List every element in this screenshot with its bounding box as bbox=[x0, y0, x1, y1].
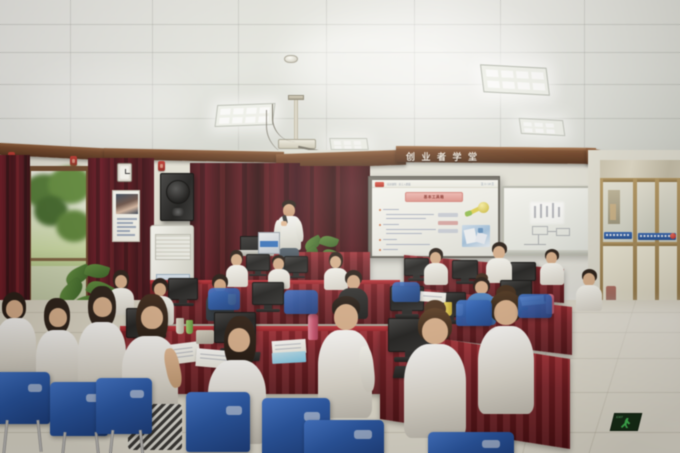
projection-screen: 培训课程 · 员工入职篇 第 3 / 18 页 基本工具箱 bbox=[368, 176, 500, 258]
blue-wall-sign-left bbox=[604, 232, 632, 239]
window-frame bbox=[26, 258, 92, 261]
blue-notebook bbox=[272, 351, 307, 364]
slide-header-text: 培训课程 · 员工入职篇 bbox=[387, 182, 411, 186]
whiteboard bbox=[502, 186, 590, 256]
attendee bbox=[540, 250, 564, 284]
pink-thermos bbox=[308, 314, 318, 340]
wall-poster bbox=[112, 190, 140, 242]
window-frame bbox=[26, 166, 92, 171]
chair bbox=[428, 432, 514, 453]
green-cup bbox=[186, 320, 193, 334]
ceiling-light-panel bbox=[329, 138, 369, 150]
smoke-detector-icon bbox=[284, 55, 298, 63]
monitor bbox=[246, 254, 270, 276]
chair bbox=[518, 294, 552, 318]
slide-logo-icon bbox=[375, 182, 384, 187]
chair bbox=[304, 420, 384, 453]
wall-clock-icon bbox=[117, 163, 132, 182]
monitor bbox=[252, 282, 284, 312]
exit-floor-sign-near: EXIT bbox=[610, 413, 642, 431]
exit-sign-text: EXIT bbox=[616, 415, 624, 419]
chair bbox=[392, 282, 420, 302]
ceiling-light-panel bbox=[480, 64, 550, 95]
projected-slide: 培训课程 · 员工入职篇 第 3 / 18 页 基本工具箱 bbox=[372, 180, 498, 256]
chair bbox=[208, 288, 240, 310]
slide-title-text: 基本工具箱 bbox=[424, 195, 444, 200]
ceiling-light-panel bbox=[519, 118, 566, 136]
attendee bbox=[424, 250, 448, 284]
chair bbox=[456, 300, 492, 326]
chair bbox=[186, 392, 250, 452]
projector-ceiling-plate bbox=[288, 95, 304, 100]
chair bbox=[96, 378, 152, 434]
chair bbox=[0, 372, 50, 424]
slide-title-banner: 基本工具箱 bbox=[405, 192, 463, 202]
wall-banner-text: 创 业 者 学 堂 bbox=[406, 150, 479, 163]
chair bbox=[284, 290, 318, 314]
red-tassel-decoration bbox=[70, 156, 77, 166]
slide-page-number: 第 3 / 18 页 bbox=[481, 182, 494, 186]
slide-illustration-tool bbox=[464, 202, 490, 220]
glass-partition bbox=[600, 160, 680, 320]
red-tassel-decoration bbox=[158, 161, 165, 171]
wall-speaker bbox=[160, 173, 194, 221]
classroom-training-photo: 创 业 者 学 堂 bbox=[0, 0, 680, 453]
attendee bbox=[0, 292, 36, 382]
attendee bbox=[576, 270, 602, 310]
podium-label bbox=[260, 241, 278, 247]
